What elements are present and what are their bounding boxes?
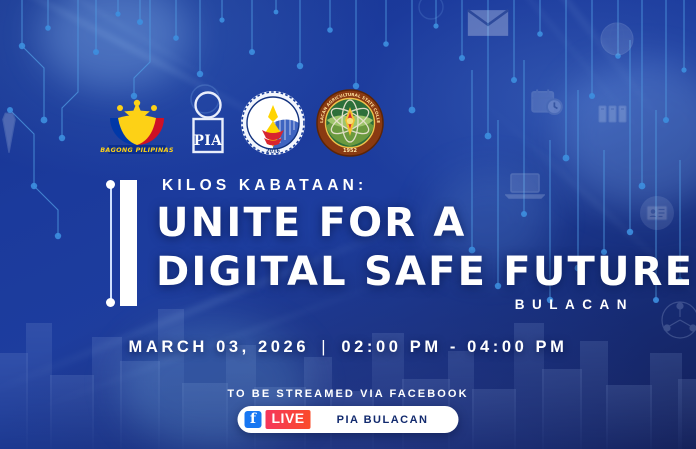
circle-node-icon: [418, 0, 444, 20]
svg-text:PIA: PIA: [194, 133, 222, 149]
svg-text:BAGONG PILIPINAS: BAGONG PILIPINAS: [100, 146, 174, 154]
svg-text:1952: 1952: [343, 148, 357, 154]
organizer-logos: BAGONG PILIPINAS PIA: [98, 88, 385, 163]
folders-icon: [598, 104, 628, 124]
necktie-icon: [0, 112, 22, 154]
event-datetime: MARCH 03, 2026 | 02:00 PM - 04:00 PM: [0, 338, 696, 357]
live-badge: LIVE: [266, 410, 311, 428]
event-kicker: KILOS KABATAAN:: [162, 178, 694, 194]
datetime-separator: |: [317, 338, 333, 356]
stream-label: TO BE STREAMED VIA FACEBOOK: [0, 388, 696, 400]
calendar-clock-icon: [531, 88, 563, 118]
bulacan-agricultural-state-college-seal: 1952 BULACAN AGRICULTURAL STATE COLLEGE: [315, 88, 385, 163]
event-time: 02:00 PM - 04:00 PM: [341, 338, 567, 356]
globe-icon: [600, 22, 634, 56]
dict-region3-seal: 2016: [240, 88, 306, 163]
bagong-pilipinas-logo: BAGONG PILIPINAS: [98, 88, 176, 163]
pia-logo: PIA: [185, 88, 231, 163]
envelope-icon: [466, 8, 510, 38]
headline-block: KILOS KABATAAN: UNITE FOR A DIGITAL SAFE…: [104, 178, 694, 312]
decorative-bracket: [104, 178, 150, 308]
title-line-1: UNITE FOR A: [156, 203, 694, 243]
title-line-2: DIGITAL SAFE FUTURE: [156, 252, 694, 292]
svg-text:2016: 2016: [266, 149, 280, 155]
facebook-live-badge[interactable]: f LIVE PIA BULACAN: [238, 406, 459, 433]
event-location: BULACAN: [156, 297, 634, 312]
event-date: MARCH 03, 2026: [128, 338, 309, 356]
facebook-page-name: PIA BULACAN: [337, 414, 429, 426]
facebook-icon: f: [245, 411, 262, 428]
event-poster: BAGONG PILIPINAS PIA: [0, 0, 696, 449]
